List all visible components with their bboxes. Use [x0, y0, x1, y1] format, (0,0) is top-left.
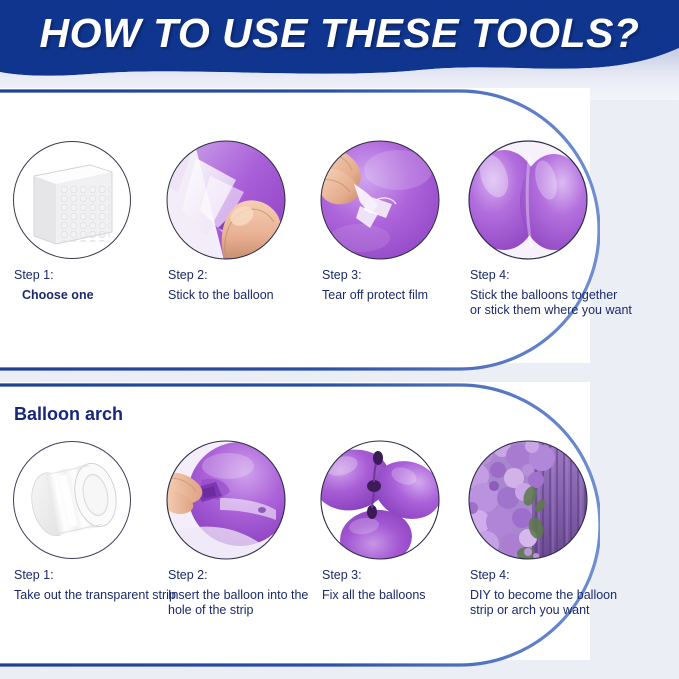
- step-description: Tear off protect film: [322, 288, 492, 303]
- infographic-page: HOW TO USE THESE TOOLS?: [0, 0, 679, 679]
- balloon-arch-steps: Balloon arch: [0, 382, 590, 660]
- step-description: Choose one: [14, 288, 192, 303]
- step-label: Step 4:: [470, 568, 510, 582]
- glue-dot-sheet-photo: [12, 140, 132, 260]
- step-description: Stick the balloons together or stick the…: [470, 288, 640, 318]
- step-label: Step 2:: [168, 568, 208, 582]
- peeling-film-photo: [320, 140, 440, 260]
- step-description: Take out the transparent strip: [14, 588, 184, 603]
- transparent-tape-roll-photo: [12, 440, 132, 560]
- step-description: DIY to become the balloon strip or arch …: [470, 588, 640, 618]
- step-description: Insert the balloon into the hole of the …: [168, 588, 338, 618]
- two-balloons-joined-photo: [468, 140, 588, 260]
- step-label: Step 1:: [14, 268, 54, 282]
- step-description: Fix all the balloons: [322, 588, 492, 603]
- page-header: HOW TO USE THESE TOOLS?: [0, 0, 679, 100]
- page-title: HOW TO USE THESE TOOLS?: [0, 7, 679, 59]
- step-label: Step 3:: [322, 568, 362, 582]
- step-label: Step 2:: [168, 268, 208, 282]
- step-label: Step 3:: [322, 268, 362, 282]
- hand-sticking-dot-photo: [166, 140, 286, 260]
- finished-balloon-arch-photo: [468, 440, 588, 560]
- glue-dots-steps: Step 1: Choose one: [0, 88, 590, 363]
- section-title: Balloon arch: [14, 404, 123, 425]
- step-description: Stick to the balloon: [168, 288, 338, 303]
- step-label: Step 4:: [470, 268, 510, 282]
- step-label: Step 1:: [14, 568, 54, 582]
- inserting-balloon-photo: [166, 440, 286, 560]
- glue-dots-panel: Step 1: Choose one: [0, 88, 590, 363]
- balloon-arch-panel: Balloon arch: [0, 382, 590, 660]
- three-balloons-fixed-photo: [320, 440, 440, 560]
